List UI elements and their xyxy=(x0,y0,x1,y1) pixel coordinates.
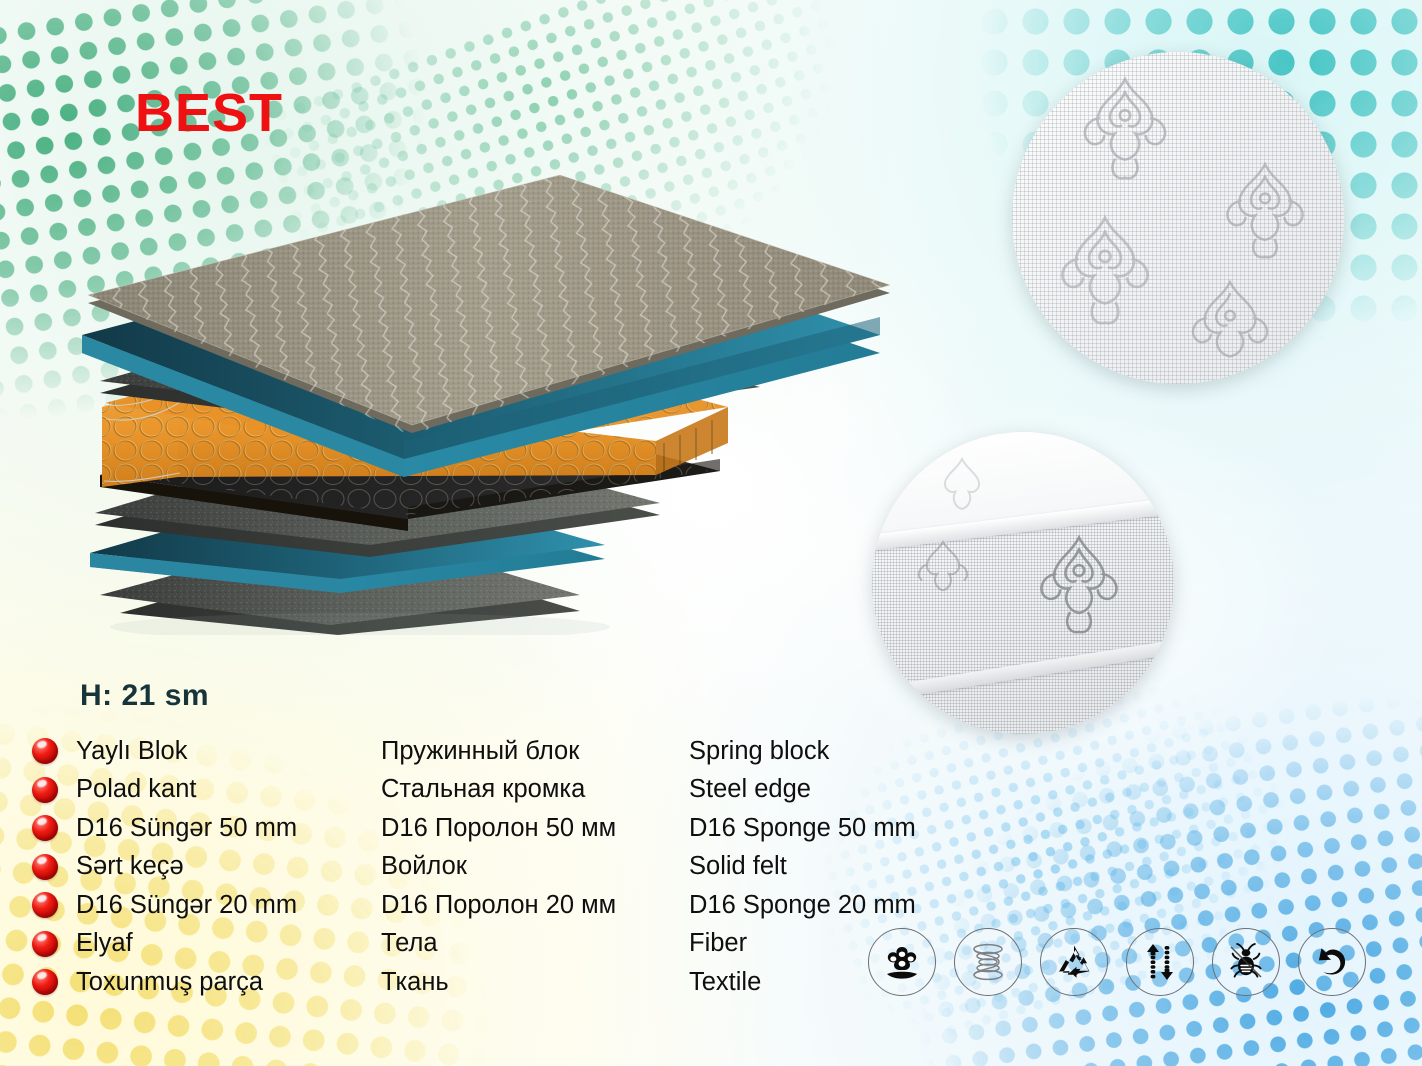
feature-icon-row xyxy=(868,928,1366,996)
damask-motif-icon xyxy=(1020,528,1138,646)
list-item: Sərt keçə Войлок Solid felt xyxy=(32,848,1032,887)
product-poster: BEST xyxy=(0,0,1422,1066)
damask-motif-icon xyxy=(1036,204,1174,342)
bullet-icon xyxy=(32,854,58,880)
damask-motif-icon xyxy=(1204,152,1326,274)
list-item: D16 Süngər 20 mm D16 Поролон 20 мм D16 S… xyxy=(32,886,1032,925)
spec-label-ru: Ткань xyxy=(381,970,689,996)
spec-label-ru: Пружинный блок xyxy=(381,739,689,765)
list-item: Yaylı Blok Пружинный блок Spring block xyxy=(32,732,1032,771)
spec-label-en: Steel edge xyxy=(689,777,811,803)
damask-motif-icon xyxy=(1170,270,1290,384)
bullet-icon xyxy=(32,969,58,995)
spec-label-ru: D16 Поролон 50 мм xyxy=(381,816,689,842)
list-item: Polad kant Стальная кромка Steel edge xyxy=(32,771,1032,810)
bullet-icon xyxy=(32,815,58,841)
spec-label-az: D16 Süngər 20 mm xyxy=(76,893,381,919)
page-title: BEST xyxy=(135,86,283,140)
spec-label-az: Yaylı Blok xyxy=(76,739,381,765)
spec-label-az: Elyaf xyxy=(76,931,381,957)
damask-motif-icon xyxy=(900,530,986,616)
mattress-height-label: H: 21 sm xyxy=(80,679,209,713)
spec-label-az: D16 Süngər 50 mm xyxy=(76,816,381,842)
two-way-arrows-icon xyxy=(1126,928,1194,996)
spec-label-en: D16 Sponge 50 mm xyxy=(689,816,916,842)
spec-label-en: D16 Sponge 20 mm xyxy=(689,893,916,919)
spec-label-en: Solid felt xyxy=(689,854,787,880)
mattress-corner-photo-circle xyxy=(872,432,1174,734)
bullet-icon xyxy=(32,777,58,803)
bullet-icon xyxy=(32,892,58,918)
spec-label-az: Toxunmuş parça xyxy=(76,970,381,996)
bullet-icon xyxy=(32,738,58,764)
damask-motif-icon xyxy=(914,450,1010,520)
rotate-icon xyxy=(1298,928,1366,996)
spec-label-ru: Тела xyxy=(381,931,689,957)
spec-label-ru: Стальная кромка xyxy=(381,777,689,803)
spec-label-ru: Войлок xyxy=(381,854,689,880)
spring-coil-icon xyxy=(954,928,1022,996)
spec-label-ru: D16 Поролон 20 мм xyxy=(381,893,689,919)
spec-label-az: Polad kant xyxy=(76,777,381,803)
fabric-swatch-circle xyxy=(1012,52,1344,384)
recycle-icon xyxy=(1040,928,1108,996)
list-item: D16 Süngər 50 mm D16 Поролон 50 мм D16 S… xyxy=(32,809,1032,848)
damask-motif-icon xyxy=(1060,66,1190,196)
spec-label-en: Textile xyxy=(689,970,761,996)
spec-label-en: Spring block xyxy=(689,739,829,765)
cotton-icon xyxy=(868,928,936,996)
bullet-icon xyxy=(32,931,58,957)
spec-label-az: Sərt keçə xyxy=(76,854,381,880)
anti-bedbug-icon xyxy=(1212,928,1280,996)
spec-label-en: Fiber xyxy=(689,931,747,957)
mattress-layer-cutaway xyxy=(60,175,890,635)
